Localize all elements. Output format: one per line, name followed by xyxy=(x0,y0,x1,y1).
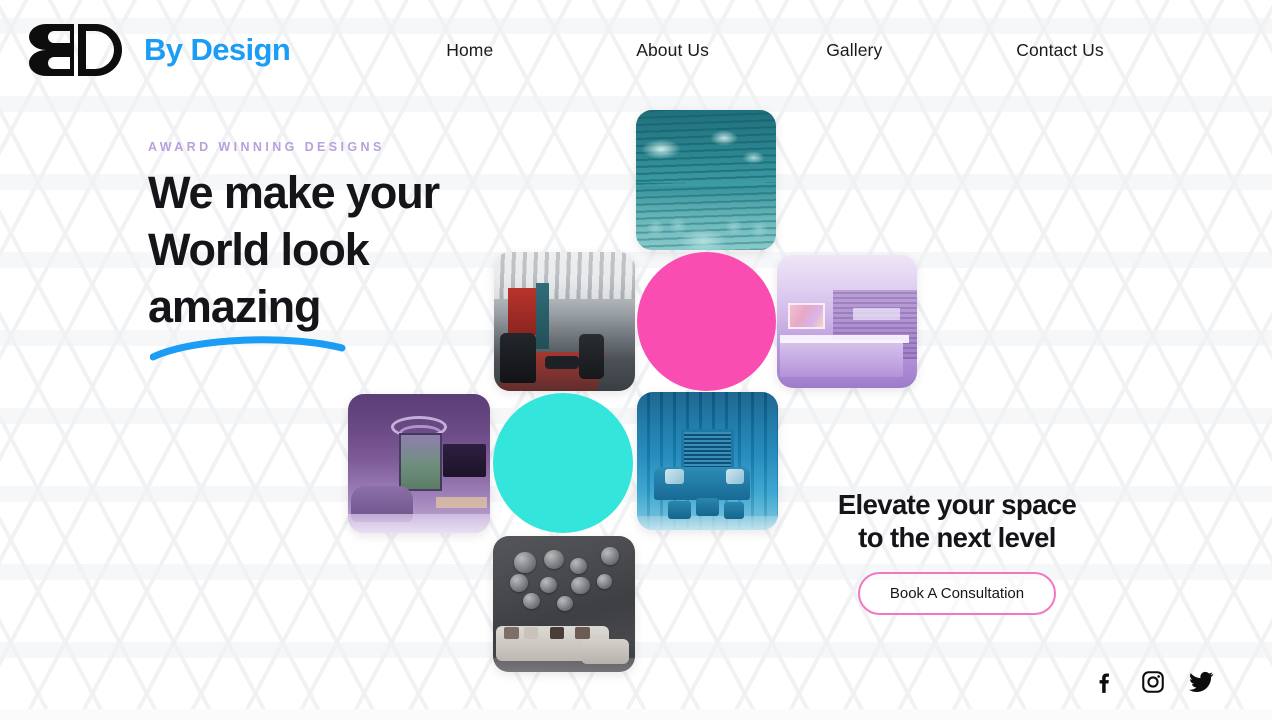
pink-circle xyxy=(637,252,776,391)
wall-disc-7 xyxy=(571,577,589,595)
gray-room-pillow-2 xyxy=(524,627,538,639)
blue-room-cushion-right xyxy=(726,469,744,484)
hero-copy-left: AWARD WINNING DESIGNS We make your World… xyxy=(148,140,508,363)
reception-wall-sign xyxy=(853,308,901,320)
purple-living-room-artwork xyxy=(348,394,490,533)
gray-sofa-room-photo[interactable] xyxy=(493,536,635,672)
blue-room-ottoman-2 xyxy=(696,498,719,516)
nav-item-home[interactable]: Home xyxy=(446,34,636,67)
nav-item-about-us[interactable]: About Us xyxy=(636,34,826,67)
blue-room-ottoman-1 xyxy=(668,501,691,519)
wall-disc-6 xyxy=(540,577,557,593)
cta-block: Elevate your space to the next level Boo… xyxy=(790,488,1124,615)
cta-title: Elevate your space to the next level xyxy=(790,488,1124,554)
site-header: By Design Home About Us Gallery Contact … xyxy=(0,0,1272,100)
wall-disc-4 xyxy=(601,547,619,565)
instagram-icon[interactable] xyxy=(1140,669,1166,695)
lounge-seating xyxy=(636,186,776,250)
office-coffee-table xyxy=(545,356,579,369)
wall-disc-5 xyxy=(510,574,528,592)
lounge-greenery-artwork xyxy=(636,110,776,250)
nav-item-gallery[interactable]: Gallery xyxy=(826,34,1016,67)
reception-desk xyxy=(780,340,903,377)
wall-disc-2 xyxy=(544,550,564,569)
social-links xyxy=(1092,669,1214,695)
bottom-strip xyxy=(0,709,1272,720)
blue-panelled-room-photo[interactable] xyxy=(637,392,778,530)
wall-disc-1 xyxy=(514,552,535,572)
gray-sofa-room-artwork xyxy=(493,536,635,672)
wall-disc-10 xyxy=(557,596,573,611)
twitter-icon[interactable] xyxy=(1188,669,1214,695)
gray-room-pillow-3 xyxy=(550,627,564,639)
brand-logo-group[interactable]: By Design xyxy=(24,22,290,78)
reception-aecom-artwork xyxy=(777,255,917,388)
brand-name: By Design xyxy=(144,32,290,68)
facebook-icon[interactable] xyxy=(1092,669,1118,695)
wall-disc-9 xyxy=(523,593,540,609)
blue-room-ottoman-3 xyxy=(724,502,744,519)
reception-desk-top xyxy=(780,335,909,343)
hero-title-line-3: amazing xyxy=(148,281,320,332)
wall-disc-3 xyxy=(570,558,587,574)
blue-room-cushion-left xyxy=(665,469,683,484)
main-navigation: Home About Us Gallery Contact Us xyxy=(446,34,1206,67)
page-title: We make your World look amazing xyxy=(148,164,508,335)
lounge-greenery-photo[interactable] xyxy=(636,110,776,250)
reception-wall-art xyxy=(788,303,824,330)
office-chair-right xyxy=(579,334,604,378)
purple-living-room-photo[interactable] xyxy=(348,394,490,533)
cta-title-line-1: Elevate your space xyxy=(838,489,1076,520)
reception-aecom-photo[interactable] xyxy=(777,255,917,388)
blue-room-floor xyxy=(637,516,778,530)
living-room-tv xyxy=(443,444,486,477)
blue-panelled-room-artwork xyxy=(637,392,778,530)
cyan-circle xyxy=(493,393,633,533)
gray-room-pillow-1 xyxy=(504,627,518,639)
hero-title-line-1: We make your xyxy=(148,167,439,218)
cta-title-line-2: to the next level xyxy=(858,522,1056,553)
nav-item-contact-us[interactable]: Contact Us xyxy=(1016,34,1206,67)
gray-room-chaise xyxy=(581,639,629,663)
book-consultation-button[interactable]: Book A Consultation xyxy=(858,572,1056,615)
gray-room-pillow-4 xyxy=(575,627,589,639)
page-stage: By Design Home About Us Gallery Contact … xyxy=(0,0,1272,720)
office-red-wall xyxy=(508,288,539,335)
living-room-rug xyxy=(348,514,490,533)
open-office-photo[interactable] xyxy=(494,252,635,391)
wall-disc-8 xyxy=(597,574,613,589)
bd-monogram-logo-icon xyxy=(24,22,128,78)
hero-title-line-2: World look xyxy=(148,224,369,275)
living-room-window xyxy=(399,433,442,491)
office-teal-column xyxy=(536,283,549,350)
living-room-shelf xyxy=(436,497,487,508)
hero-eyebrow: AWARD WINNING DESIGNS xyxy=(148,140,508,154)
open-office-artwork xyxy=(494,252,635,391)
